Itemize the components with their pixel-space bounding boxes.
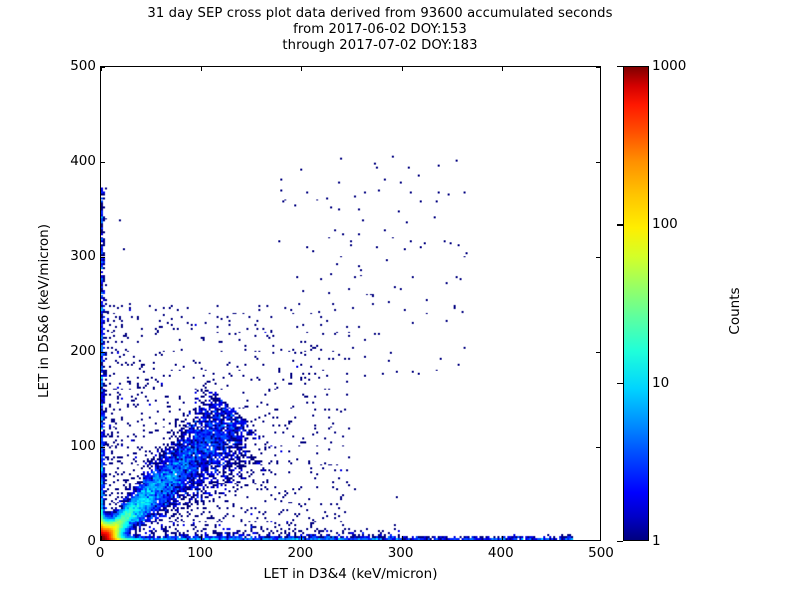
x-tick-label-300: 300 [388, 545, 414, 561]
x-tick-label-200: 200 [288, 545, 314, 561]
colorbar-title: Counts [727, 236, 743, 386]
y-tick-label-100: 100 [70, 438, 96, 454]
y-tick-right-300 [596, 257, 600, 258]
x-tick-top-200 [301, 67, 302, 71]
x-tick-100 [201, 536, 202, 540]
scatter-plot-page: { "title": { "line1": "31 day SEP cross … [0, 0, 800, 600]
x-tick-400 [502, 536, 503, 540]
y-axis-title: LET in D5&6 (keV/micron) [36, 196, 52, 426]
title-line-2: from 2017-06-02 DOY:153 [0, 22, 760, 38]
colorbar-tick-label-100: 100 [652, 216, 678, 232]
colorbar-tick-10 [617, 383, 623, 384]
x-tick-label-500: 500 [588, 545, 614, 561]
colorbar-tick-1000 [617, 66, 623, 67]
colorbar-tick-label-1000: 1000 [652, 58, 686, 74]
x-tick-200 [301, 536, 302, 540]
colorbar-tick-100 [617, 224, 623, 225]
x-tick-label-400: 400 [488, 545, 514, 561]
x-tick-top-100 [201, 67, 202, 71]
title-line-1: 31 day SEP cross plot data derived from … [0, 6, 760, 22]
y-tick-label-0: 0 [87, 533, 96, 549]
x-tick-top-400 [502, 67, 503, 71]
x-tick-300 [402, 536, 403, 540]
y-tick-right-200 [596, 352, 600, 353]
y-tick-right-500 [596, 67, 600, 68]
x-tick-top-300 [402, 67, 403, 71]
y-tick-400 [101, 162, 105, 163]
y-tick-200 [101, 352, 105, 353]
x-tick-0 [101, 536, 102, 540]
scatter-density-canvas [101, 67, 600, 540]
y-tick-100 [101, 447, 105, 448]
colorbar [623, 66, 649, 541]
y-tick-label-200: 200 [70, 343, 96, 359]
y-tick-500 [101, 67, 105, 68]
x-tick-label-0: 0 [96, 545, 105, 561]
title-line-3: through 2017-07-02 DOY:183 [0, 38, 760, 54]
chart-title: 31 day SEP cross plot data derived from … [0, 6, 760, 54]
y-tick-label-300: 300 [70, 248, 96, 264]
y-tick-300 [101, 257, 105, 258]
y-tick-label-500: 500 [70, 58, 96, 74]
colorbar-tick-label-10: 10 [652, 375, 669, 391]
y-tick-right-100 [596, 447, 600, 448]
y-tick-right-400 [596, 162, 600, 163]
x-axis-title: LET in D3&4 (keV/micron) [100, 566, 601, 582]
x-tick-label-100: 100 [187, 545, 213, 561]
colorbar-tick-label-1: 1 [652, 533, 661, 549]
y-tick-label-400: 400 [70, 153, 96, 169]
colorbar-tick-1 [617, 541, 623, 542]
plot-area [100, 66, 601, 541]
